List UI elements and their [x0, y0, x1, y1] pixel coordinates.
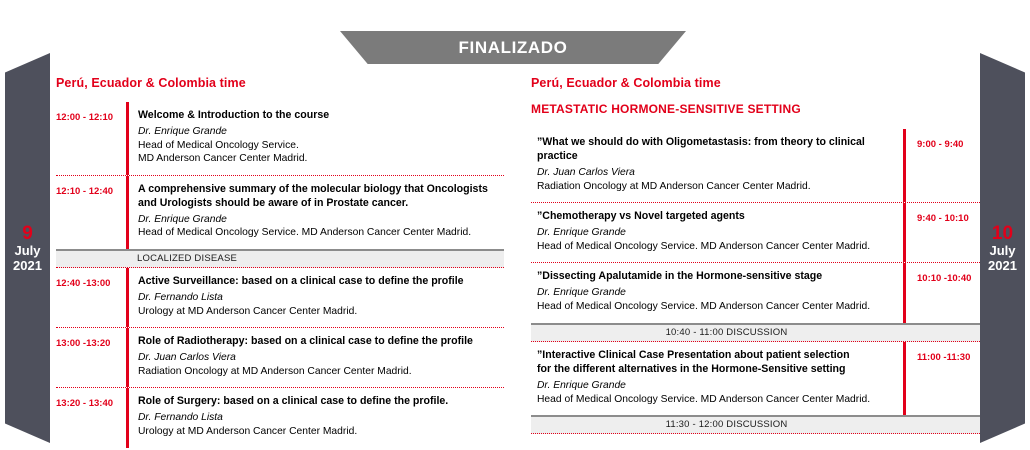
row-time: 13:20 - 13:40	[56, 388, 126, 447]
agenda-row[interactable]: 12:40 -13:00 Active Surveillance: based …	[56, 268, 504, 327]
row-title-2: and Urologists should be aware of in Pro…	[138, 197, 504, 211]
row-time: 12:40 -13:00	[56, 268, 126, 327]
row-affiliation: Head of Medical Oncology Service. MD And…	[537, 240, 893, 253]
row-title: ”What we should do with Oligometastasis:…	[537, 136, 893, 164]
agenda-row[interactable]: 13:20 - 13:40 Role of Surgery: based on …	[56, 387, 504, 447]
row-affiliation-2: MD Anderson Cancer Center Madrid.	[138, 152, 504, 165]
agenda-row[interactable]: ”Chemotherapy vs Novel targeted agents D…	[531, 202, 980, 262]
row-speaker: Dr. Juan Carlos Viera	[138, 351, 504, 365]
discussion-band-label: 11:30 - 12:00 DISCUSSION	[666, 419, 846, 430]
row-speaker: Dr. Enrique Grande	[138, 213, 504, 227]
row-affiliation: Head of Medical Oncology Service. MD And…	[138, 226, 504, 239]
date-month-left: July	[14, 244, 40, 259]
row-affiliation: Head of Medical Oncology Service. MD And…	[537, 300, 893, 313]
row-title: Role of Radiotherapy: based on a clinica…	[138, 335, 504, 349]
row-title: A comprehensive summary of the molecular…	[138, 183, 504, 197]
discussion-band-1: 10:40 - 11:00 DISCUSSION	[531, 323, 980, 342]
row-title-2: for the different alternatives in the Ho…	[537, 363, 893, 377]
date-year-right: 2021	[988, 259, 1017, 274]
row-time: 13:00 -13:20	[56, 328, 126, 387]
row-title: Role of Surgery: based on a clinical cas…	[138, 395, 504, 409]
row-speaker: Dr. Fernando Lista	[138, 411, 504, 425]
row-speaker: Dr. Enrique Grande	[537, 226, 893, 240]
status-badge: FINALIZADO	[459, 38, 568, 58]
row-body: Active Surveillance: based on a clinical…	[129, 268, 504, 327]
timezone-heading-left: Perú, Ecuador & Colombia time	[56, 76, 504, 90]
date-year-left: 2021	[13, 259, 42, 274]
section-band-localized-disease: LOCALIZED DISEASE	[56, 249, 504, 268]
row-title: ”Interactive Clinical Case Presentation …	[537, 349, 893, 363]
date-month-right: July	[989, 244, 1015, 259]
agenda-row[interactable]: 12:00 - 12:10 Welcome & Introduction to …	[56, 102, 504, 175]
agenda-row[interactable]: ”Dissecting Apalutamide in the Hormone-s…	[531, 262, 980, 322]
row-speaker: Dr. Enrique Grande	[537, 379, 893, 393]
section-band-label: LOCALIZED DISEASE	[56, 253, 237, 264]
agenda-row[interactable]: ”Interactive Clinical Case Presentation …	[531, 342, 980, 415]
section-title-metastatic: METASTATIC HORMONE-SENSITIVE SETTING	[531, 102, 980, 116]
agenda-row[interactable]: 12:10 - 12:40 A comprehensive summary of…	[56, 175, 504, 249]
agenda-column-day-9: Perú, Ecuador & Colombia time 12:00 - 12…	[56, 76, 504, 448]
status-banner: FINALIZADO	[340, 31, 686, 64]
row-affiliation: Radiation Oncology at MD Anderson Cancer…	[537, 180, 893, 193]
agenda-column-day-10: Perú, Ecuador & Colombia time METASTATIC…	[531, 76, 980, 434]
row-body: Role of Surgery: based on a clinical cas…	[129, 388, 504, 447]
row-affiliation: Urology at MD Anderson Cancer Center Mad…	[138, 425, 504, 438]
row-affiliation: Urology at MD Anderson Cancer Center Mad…	[138, 305, 504, 318]
row-body: ”Dissecting Apalutamide in the Hormone-s…	[531, 263, 903, 322]
row-title: ”Chemotherapy vs Novel targeted agents	[537, 210, 893, 224]
row-affiliation: Head of Medical Oncology Service.	[138, 139, 504, 152]
row-title: ”Dissecting Apalutamide in the Hormone-s…	[537, 270, 893, 284]
row-time: 9:40 - 10:10	[906, 203, 980, 262]
agenda-row[interactable]: ”What we should do with Oligometastasis:…	[531, 129, 980, 202]
row-time: 9:00 - 9:40	[906, 129, 980, 202]
row-body: Role of Radiotherapy: based on a clinica…	[129, 328, 504, 387]
date-day-left: 9	[22, 223, 33, 244]
row-speaker: Dr. Enrique Grande	[537, 286, 893, 300]
discussion-band-label: 10:40 - 11:00 DISCUSSION	[666, 327, 846, 338]
row-body: ”What we should do with Oligometastasis:…	[531, 129, 903, 202]
row-title: Welcome & Introduction to the course	[138, 109, 504, 123]
row-time: 10:10 -10:40	[906, 263, 980, 322]
discussion-band-2: 11:30 - 12:00 DISCUSSION	[531, 415, 980, 434]
row-body: ”Interactive Clinical Case Presentation …	[531, 342, 903, 415]
row-time: 12:00 - 12:10	[56, 102, 126, 175]
date-day-right: 10	[992, 223, 1013, 244]
agenda-page: FINALIZADO 9 July 2021 10 July 2021 Perú…	[0, 0, 1030, 450]
row-body: ”Chemotherapy vs Novel targeted agents D…	[531, 203, 903, 262]
date-panel-left: 9 July 2021	[5, 53, 50, 443]
agenda-row[interactable]: 13:00 -13:20 Role of Radiotherapy: based…	[56, 327, 504, 387]
row-body: A comprehensive summary of the molecular…	[129, 176, 504, 249]
row-speaker: Dr. Juan Carlos Viera	[537, 166, 893, 180]
row-time: 12:10 - 12:40	[56, 176, 126, 249]
row-affiliation: Head of Medical Oncology Service. MD And…	[537, 393, 893, 406]
timezone-heading-right: Perú, Ecuador & Colombia time	[531, 76, 980, 90]
date-panel-right: 10 July 2021	[980, 53, 1025, 443]
row-body: Welcome & Introduction to the course Dr.…	[129, 102, 504, 175]
row-affiliation: Radiation Oncology at MD Anderson Cancer…	[138, 365, 504, 378]
row-time: 11:00 -11:30	[906, 342, 980, 415]
row-speaker: Dr. Enrique Grande	[138, 125, 504, 139]
row-speaker: Dr. Fernando Lista	[138, 291, 504, 305]
row-title: Active Surveillance: based on a clinical…	[138, 275, 504, 289]
